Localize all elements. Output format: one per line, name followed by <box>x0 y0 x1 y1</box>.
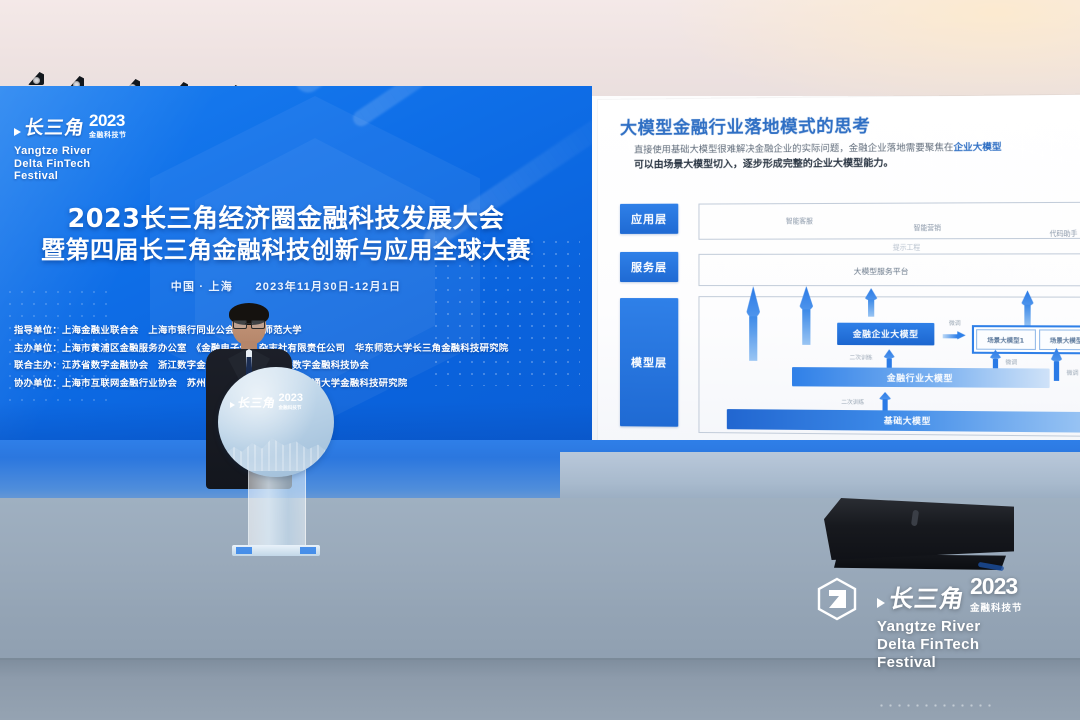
logo-year: 2023 <box>89 112 125 129</box>
app-item-label: 智能客服 <box>786 215 813 225</box>
watermark-year: 2023 <box>970 575 1017 598</box>
flow-arrow-up <box>878 392 891 410</box>
slide-body: 直接使用基础大模型很难解决金融企业的实际问题，金融企业落地需要聚焦在企业大模型 … <box>634 140 1080 173</box>
flow-arrow-right <box>943 331 966 340</box>
arrow-label-tuning: 微调 <box>1067 369 1079 377</box>
event-date: 2023年11月30日-12月1日 <box>255 281 401 293</box>
wedge-cabinet <box>824 498 1014 560</box>
sponsor-line: 指导单位：上海金融业联合会 上海市银行同业公会 华东师范大学 <box>14 322 574 340</box>
podium-logo-cn: 长三角 <box>237 394 277 411</box>
logo-cn-sub: 金融科技节 <box>89 130 127 140</box>
podium-logo: 长三角 2023 金融科技节 <box>230 393 322 411</box>
slide-body-line-2: 可以由场景大模型切入，逐步形成完整的企业大模型能力。 <box>634 155 1080 173</box>
podium-base <box>232 545 320 556</box>
stage-monitor-wedge <box>824 498 1014 578</box>
event-location: 中国 · 上海 <box>171 281 233 293</box>
banner-light-streak <box>350 86 592 129</box>
arrow-label-secondary-training: 二次训练 <box>841 398 864 406</box>
headline-line-2: 暨第四届长三角金融科技创新与应用全球大赛 <box>36 235 536 266</box>
app-item-label: 代码助手 <box>1050 228 1078 238</box>
logo-en-line1: Yangtze River <box>14 145 184 158</box>
arrow-label-tuning: 微调 <box>1005 358 1017 366</box>
arrow-label-secondary-training: 二次训练 <box>849 353 872 361</box>
logo-en-line3: Festival <box>14 170 184 183</box>
scenario-model-1: 场景大模型1 <box>976 329 1035 350</box>
podium-skyline-graphic <box>226 431 326 471</box>
banner-light-streak <box>290 86 578 98</box>
podium-logo-year: 2023 <box>279 393 303 404</box>
flow-arrow-up <box>1020 290 1035 327</box>
logo-cn-text: 长三角 <box>23 113 87 140</box>
model-box-enterprise: 金融企业大模型 <box>837 323 934 346</box>
flow-arrow-up <box>798 286 814 345</box>
podium: 长三角 2023 金融科技节 <box>218 367 334 559</box>
watermark-cn-sub: 金融科技节 <box>970 600 1023 614</box>
event-meta: 中国 · 上海 2023年11月30日-12月1日 <box>36 278 536 294</box>
model-box-foundation: 基础大模型 <box>727 409 1080 433</box>
podium-logo-sub: 金融科技节 <box>279 405 302 411</box>
watermark-en-line3: Festival <box>877 654 1073 672</box>
flow-arrow-up <box>864 288 878 316</box>
headline-line-1: 2023长三角经济圈金融科技发展大会 <box>36 204 536 235</box>
watermark-en-line2: Delta FinTech <box>877 636 1073 654</box>
logo-en-line2: Delta FinTech <box>14 158 184 171</box>
arrow-label-tuning: 微调 <box>949 319 961 327</box>
slide-title: 大模型金融行业落地模式的思考 <box>620 111 871 139</box>
flow-arrow-up <box>745 286 761 361</box>
layer-tag-service: 服务层 <box>620 252 678 282</box>
layer-tag-application: 应用层 <box>620 204 678 234</box>
watermark-arrow-icon <box>877 598 885 608</box>
model-box-industry: 金融行业大模型 <box>792 367 1050 388</box>
podium-logo-arrow-icon <box>230 402 235 408</box>
sponsor-line: 主办单位：上海市黄浦区金融服务办公室 《金融电子化》杂志社有限责任公司 华东师范… <box>14 340 574 358</box>
service-sub-label: 提示工程 <box>893 241 920 251</box>
slide-body-line-1: 直接使用基础大模型很难解决金融企业的实际问题，金融企业落地需要聚焦在 <box>634 142 953 156</box>
layer-tag-model: 模型层 <box>620 298 678 427</box>
app-item-label: 智能营销 <box>914 222 941 232</box>
watermark-cn: 长三角 <box>887 579 968 614</box>
logo-arrow-icon <box>14 128 21 136</box>
flow-arrow-up <box>1050 348 1064 381</box>
application-lane-frame <box>698 202 1080 240</box>
wedge-handle-slot <box>911 510 919 527</box>
watermark-dot-pattern <box>877 701 997 711</box>
speaker-glasses-icon <box>233 320 265 327</box>
service-item-label: 大模型服务平台 <box>854 266 909 277</box>
stage-front-right <box>560 452 1080 504</box>
festival-logo: 长三角 2023 金融科技节 Yangtze River Delta FinTe… <box>14 112 184 183</box>
watermark-en-line1: Yangtze River <box>877 618 1073 636</box>
watermark-text: 长三角 2023 金融科技节 Yangtze River Delta FinTe… <box>877 575 1073 672</box>
slide-body-highlight: 企业大模型 <box>954 142 1002 154</box>
presentation-slide: 大模型金融行业落地模式的思考 直接使用基础大模型很难解决金融企业的实际问题，金融… <box>598 95 1080 458</box>
event-headline: 2023长三角经济圈金融科技发展大会 暨第四届长三角金融科技创新与应用全球大赛 <box>36 204 536 266</box>
brand-mark-icon <box>815 577 859 621</box>
conference-photo: 长三角 2023 金融科技节 Yangtze River Delta FinTe… <box>0 0 1080 720</box>
podium-round-panel: 长三角 2023 金融科技节 <box>218 367 334 477</box>
